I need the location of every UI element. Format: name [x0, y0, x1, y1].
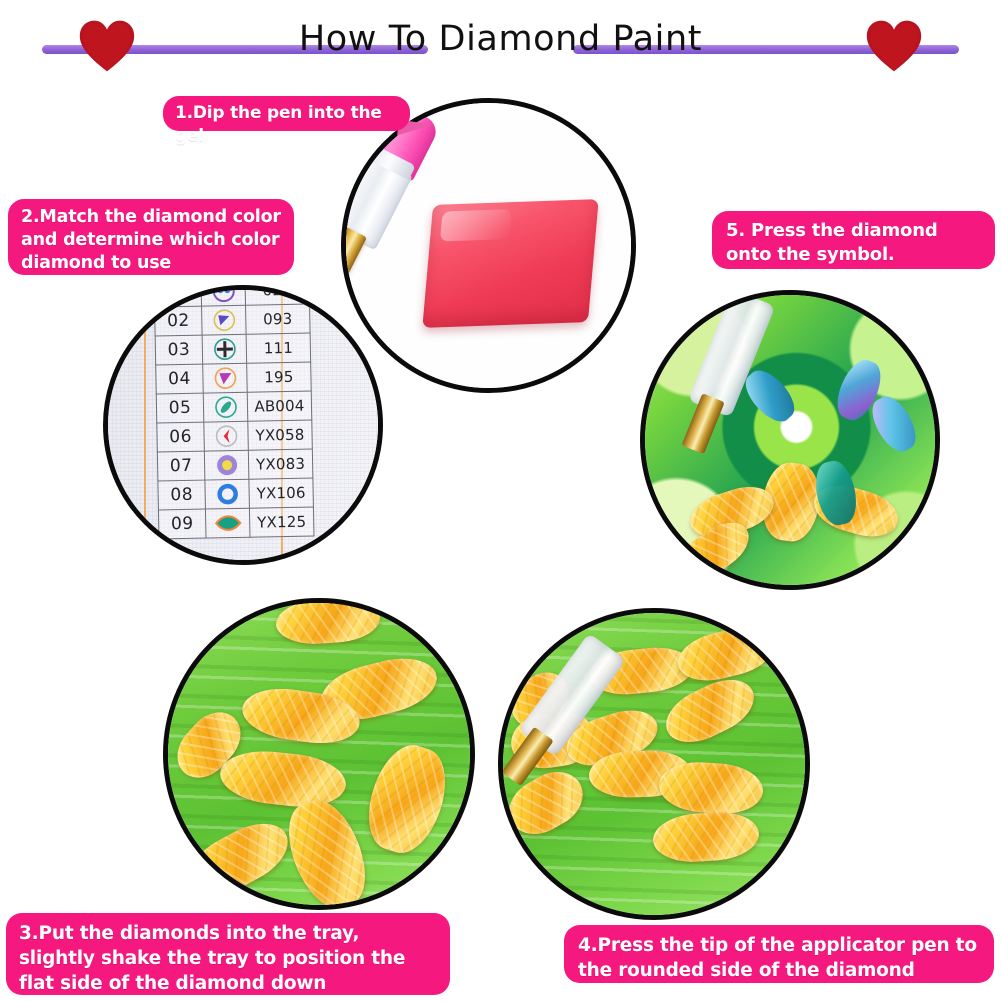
blue-ring-circle-symbol-icon: [205, 479, 249, 509]
row-code: 111: [246, 333, 311, 363]
page-header: How To Diamond Paint: [0, 0, 1001, 86]
left-chevron-circle-symbol-icon: [204, 421, 248, 451]
table-row: 05 AB004: [156, 391, 312, 423]
row-index: 01: [154, 285, 202, 307]
table-row: 08 YX106: [158, 478, 314, 510]
pen-in-gel-scene: [346, 103, 631, 388]
table-row: 02 093: [155, 304, 311, 336]
table-row: 04 195: [156, 362, 312, 394]
yellow-dot-on-purple-circle-symbol-icon: [204, 450, 248, 480]
row-index: 06: [157, 422, 205, 452]
double-dot-circle-symbol-icon: [201, 285, 245, 306]
magenta-triangle-circle-symbol-icon: [203, 363, 247, 393]
step-5-photo-bubble: [640, 290, 940, 590]
row-index: 09: [158, 509, 206, 539]
step-4-photo-bubble: [498, 608, 810, 920]
row-code: YX106: [249, 478, 314, 508]
row-code: 093: [246, 304, 311, 334]
row-index: 08: [158, 480, 206, 510]
step-4-label: 4.Press the tip of the applicator pen to…: [564, 925, 994, 983]
row-index: 03: [155, 335, 203, 365]
row-index: 04: [156, 364, 204, 394]
table-row: 09 YX125: [158, 507, 314, 539]
row-index: 02: [155, 306, 203, 336]
page-title: How To Diamond Paint: [0, 18, 1001, 60]
pen-tip-icon: [501, 727, 553, 786]
teal-leaf-symbol-icon: [206, 508, 250, 538]
filled-triangle-circle-symbol-icon: [202, 305, 246, 335]
step-2-label: 2.Match the diamond color and determine …: [8, 199, 294, 275]
row-code: YX083: [248, 449, 313, 479]
color-code-table: 01 028 02 093 03: [153, 285, 314, 539]
row-code: YX125: [249, 507, 314, 537]
step-3-label: 3.Put the diamonds into the tray, slight…: [6, 913, 450, 995]
row-code: AB004: [247, 391, 312, 421]
pen-tip-icon: [682, 393, 725, 454]
pen-pickup-scene: [503, 613, 805, 915]
plus-cross-circle-symbol-icon: [202, 334, 246, 364]
diamond-tray-scene: [168, 603, 470, 905]
row-code: 195: [247, 362, 312, 392]
step-2-photo-bubble: 01 028 02 093 03: [103, 285, 383, 565]
step-1-label: 1.Dip the pen into the gel: [163, 96, 410, 131]
mandala-canvas-scene: [645, 295, 935, 585]
row-index: 05: [156, 393, 204, 423]
color-legend-sheet: 01 028 02 093 03: [108, 290, 378, 560]
row-index: 07: [157, 451, 205, 481]
row-code: 028: [245, 285, 310, 305]
table-row: 07 YX083: [157, 449, 313, 481]
table-row: 03 111: [155, 333, 311, 365]
step-3-photo-bubble: [163, 598, 475, 910]
infographic-canvas: How To Diamond Paint 1.Dip the pen into …: [0, 0, 1001, 1001]
table-row: 06 YX058: [157, 420, 313, 452]
slash-oval-circle-symbol-icon: [203, 392, 247, 422]
gel-wax-square: [422, 199, 598, 328]
row-code: YX058: [248, 420, 313, 450]
step-5-label: 5. Press the diamond onto the symbol.: [712, 211, 995, 269]
sheet-margin-line: [144, 290, 146, 560]
step-1-photo-bubble: [341, 98, 636, 393]
